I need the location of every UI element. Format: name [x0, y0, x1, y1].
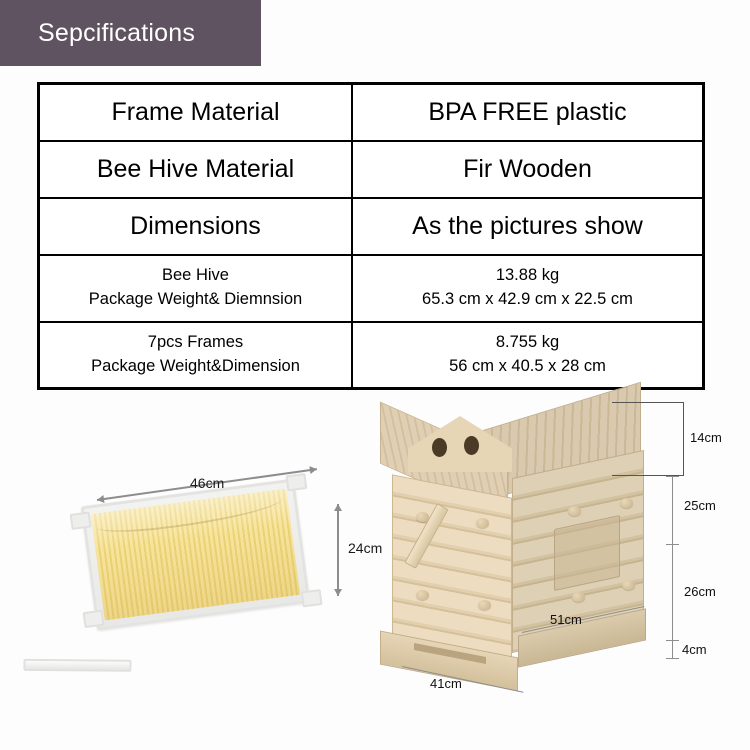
table-row: 7pcs Frames Package Weight&Dimension 8.7…: [39, 322, 704, 389]
table-row: Dimensions As the pictures show: [39, 198, 704, 255]
table-row: Bee Hive Package Weight& Diemnsion 13.88…: [39, 255, 704, 322]
ventilation-hole: [432, 438, 447, 457]
honey-flow-tube: [23, 659, 131, 672]
spec-label-line: Package Weight& Diemnsion: [44, 288, 347, 312]
product-spec-page: Sepcifications Frame Material BPA FREE p…: [0, 0, 750, 750]
honeycomb-frame: [81, 479, 310, 631]
dimension-tick: [666, 658, 679, 659]
table-row: Bee Hive Material Fir Wooden: [39, 141, 704, 198]
spec-value-line: 8.755 kg: [357, 331, 698, 355]
roof-height-label: 14cm: [690, 430, 722, 445]
spec-value-line: 56 cm x 40.5 x 28 cm: [357, 355, 698, 379]
spec-value-line: As the pictures show: [357, 212, 698, 241]
spec-value-cell: 8.755 kg 56 cm x 40.5 x 28 cm: [352, 322, 704, 389]
dimension-tick: [666, 476, 679, 477]
spec-label-cell: Dimensions: [39, 198, 352, 255]
frame-ear: [301, 589, 323, 607]
lower-box-height-label: 26cm: [684, 584, 716, 599]
spec-label-cell: Bee Hive Material: [39, 141, 352, 198]
roof-height-bracket: [612, 402, 684, 476]
frame-ear: [70, 511, 92, 529]
dowel-peg: [476, 518, 489, 528]
spec-label-cell: Frame Material: [39, 84, 352, 141]
frame-height-dimension-line: [337, 504, 339, 596]
spec-value-line: Fir Wooden: [357, 155, 698, 184]
frame-ear: [285, 473, 307, 491]
dowel-peg: [620, 498, 633, 508]
spec-value-cell: BPA FREE plastic: [352, 84, 704, 141]
dowel-peg: [416, 590, 429, 600]
depth-label: 51cm: [550, 612, 582, 627]
dowel-peg: [478, 600, 491, 610]
spec-value-line: BPA FREE plastic: [357, 98, 698, 127]
spec-value-cell: Fir Wooden: [352, 141, 704, 198]
width-label: 41cm: [430, 676, 462, 691]
specifications-table: Frame Material BPA FREE plastic Bee Hive…: [37, 82, 705, 390]
spec-value-line: 65.3 cm x 42.9 cm x 22.5 cm: [357, 288, 698, 312]
table-row: Frame Material BPA FREE plastic: [39, 84, 704, 141]
spec-value-line: 13.88 kg: [357, 264, 698, 288]
frame-width-label: 46cm: [190, 475, 224, 491]
upper-box-height-label: 25cm: [684, 498, 716, 513]
spec-value-cell: 13.88 kg 65.3 cm x 42.9 cm x 22.5 cm: [352, 255, 704, 322]
frame-ear: [83, 610, 105, 628]
spec-label-line: Frame Material: [44, 98, 347, 127]
spec-value-cell: As the pictures show: [352, 198, 704, 255]
spec-label-cell: 7pcs Frames Package Weight&Dimension: [39, 322, 352, 389]
ventilation-hole: [464, 436, 479, 455]
specifications-banner: Sepcifications: [0, 0, 261, 66]
dowel-peg: [572, 592, 585, 602]
base-height-label: 4cm: [682, 642, 707, 657]
spec-label-line: Dimensions: [44, 212, 347, 241]
spec-label-cell: Bee Hive Package Weight& Diemnsion: [39, 255, 352, 322]
bee-hive-illustration: 14cm 25cm 26cm 4cm 51cm 41cm: [372, 394, 662, 724]
spec-label-line: Package Weight&Dimension: [44, 355, 347, 379]
base-dimension-line: [672, 640, 673, 658]
lower-box-dimension-line: [672, 544, 673, 640]
dowel-peg: [568, 506, 581, 516]
dowel-peg: [622, 580, 635, 590]
page-title: Sepcifications: [0, 19, 195, 48]
upper-box-dimension-line: [672, 476, 673, 544]
spec-label-line: Bee Hive Material: [44, 155, 347, 184]
spec-label-line: Bee Hive: [44, 264, 347, 288]
spec-label-line: 7pcs Frames: [44, 331, 347, 355]
product-images: 46cm 24cm: [0, 392, 750, 750]
